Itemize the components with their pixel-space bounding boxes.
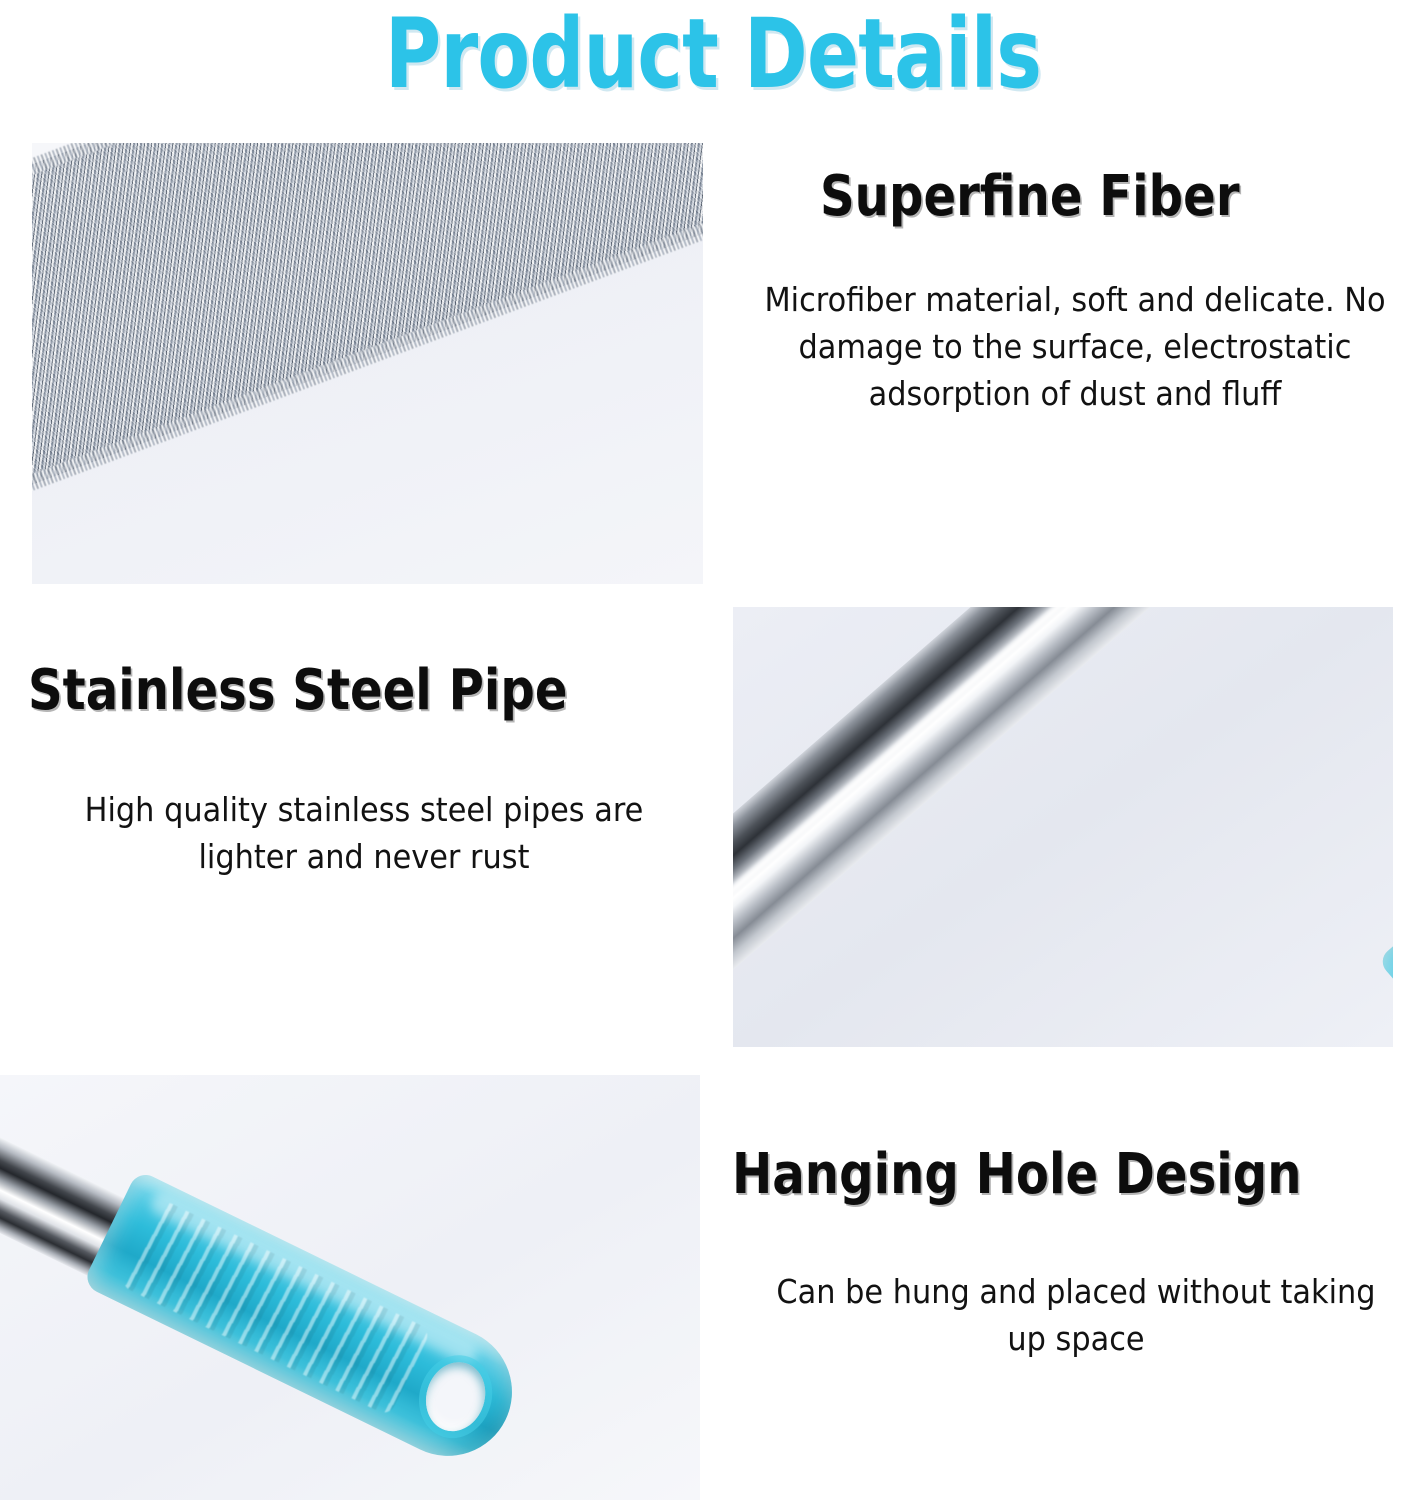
handle-grip-graphic: [82, 1169, 534, 1477]
feature-heading-hanging-hole-design: Hanging Hole Design: [732, 1144, 1302, 1206]
pipe-connector-sleeve-graphic: [1377, 809, 1393, 1047]
microfiber-pad-graphic: [32, 143, 703, 494]
feature-image-stainless-steel-pipe: [733, 607, 1393, 1047]
feature-image-superfine-fiber: [32, 143, 703, 584]
feature-body-stainless-steel-pipe: High quality stainless steel pipes are l…: [36, 786, 691, 880]
feature-image-hanging-hole-design: [0, 1075, 700, 1500]
page-title: Product Details: [143, 2, 1284, 106]
hanging-hole-graphic: [417, 1354, 494, 1438]
grip-ribs-texture: [120, 1199, 432, 1417]
feature-heading-stainless-steel-pipe: Stainless Steel Pipe: [28, 660, 568, 722]
feature-body-superfine-fiber: Microfiber material, soft and delicate. …: [755, 276, 1395, 417]
microfiber-edge-top: [32, 143, 703, 222]
feature-body-hanging-hole-design: Can be hung and placed without taking up…: [758, 1268, 1395, 1362]
steel-pipe-graphic: [733, 607, 1393, 1041]
feature-heading-superfine-fiber: Superfine Fiber: [820, 166, 1240, 228]
microfiber-edge-bottom: [32, 143, 703, 500]
